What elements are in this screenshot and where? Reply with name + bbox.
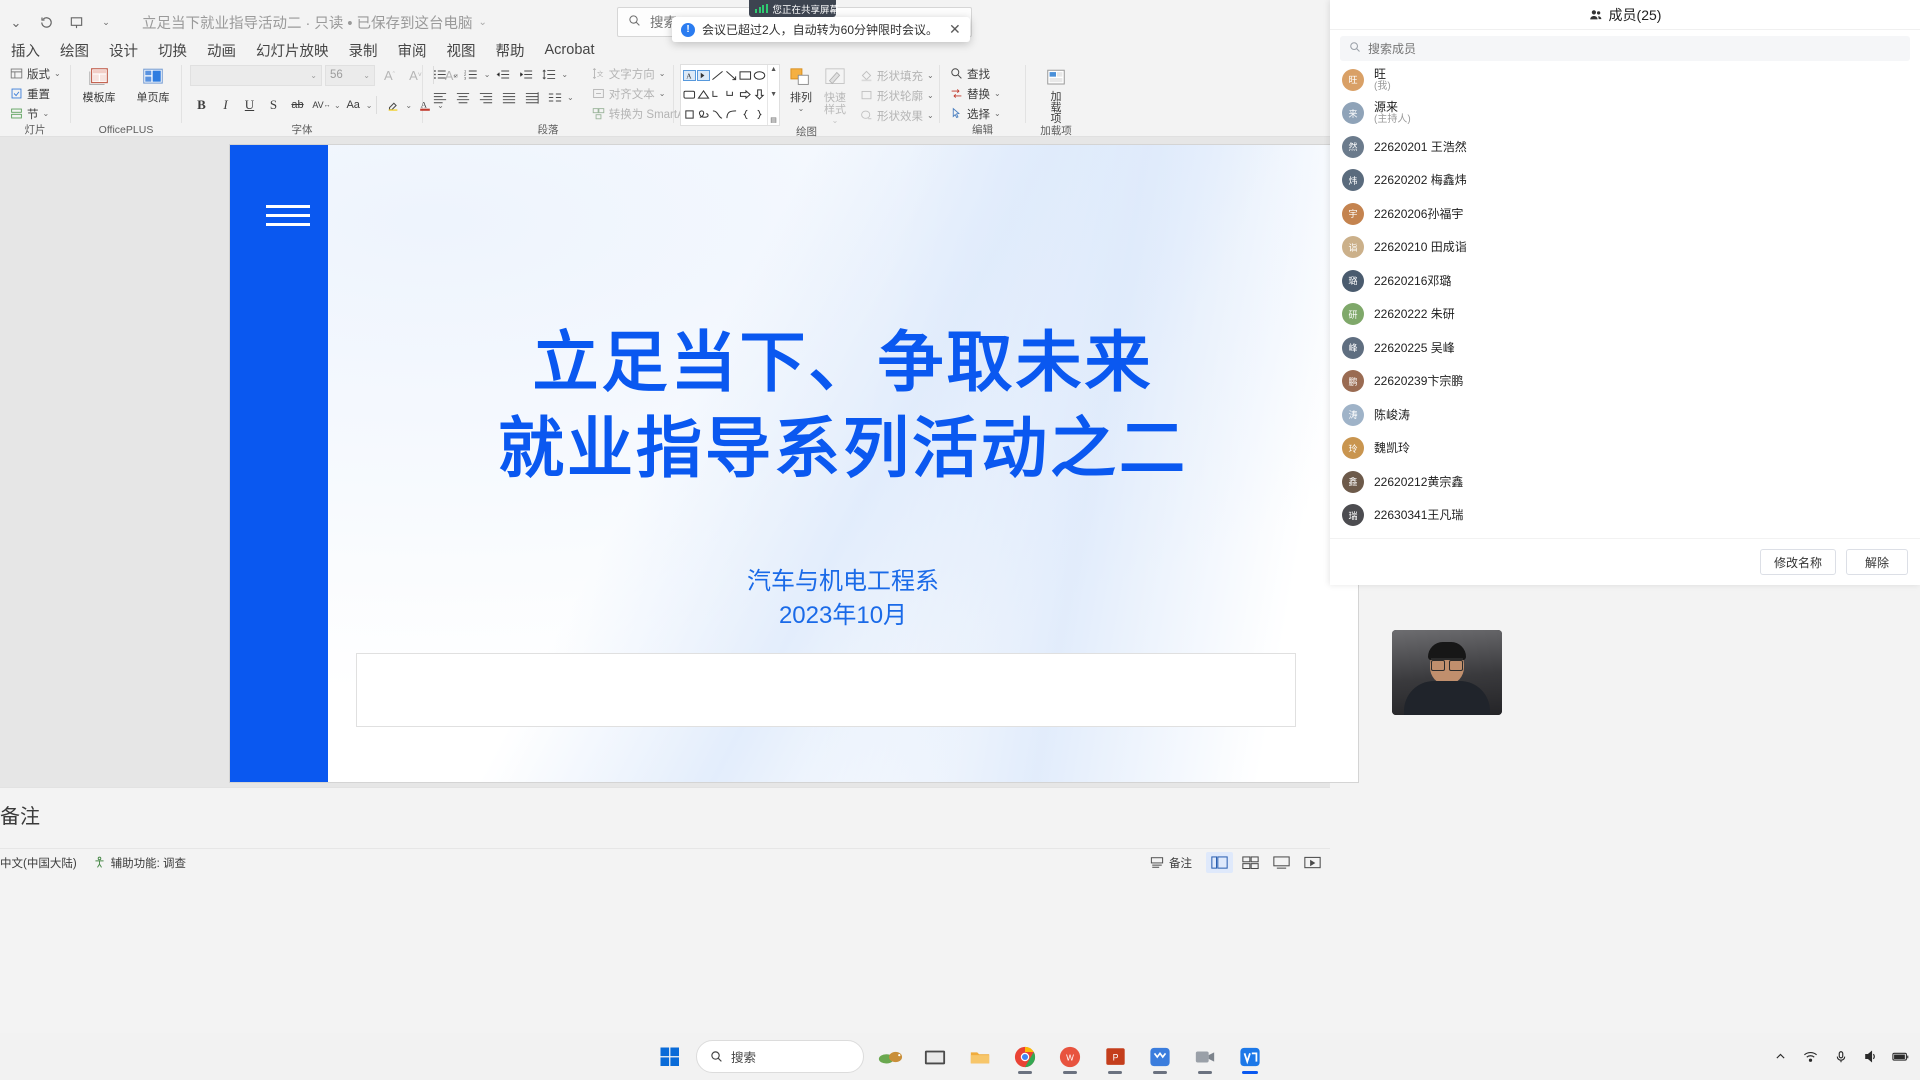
member-name: 22620222 朱研 (1374, 307, 1455, 321)
taskbar-center-group: 搜索 (651, 1038, 1269, 1076)
template-library-label: 模板库 (83, 92, 116, 104)
member-row[interactable]: 璐22620216邓璐 (1330, 264, 1920, 298)
text-highlight-icon[interactable] (381, 94, 404, 116)
ribbon-tab-2[interactable]: 设计 (100, 38, 147, 63)
change-case-button[interactable]: Aa (342, 94, 365, 116)
chevron-down-icon[interactable]: ⌄ (832, 116, 839, 125)
avatar: 瑞 (1342, 504, 1364, 526)
ribbon-tab-1[interactable]: 绘图 (51, 38, 98, 63)
view-slideshow-button[interactable] (1299, 852, 1326, 873)
document-title-chevron-icon[interactable]: ⌄ (479, 17, 487, 28)
member-row[interactable]: 研22620222 朱研 (1330, 298, 1920, 332)
member-name: 22620210 田成诣 (1374, 240, 1467, 254)
increase-font-size-icon[interactable]: Aˆ (378, 64, 401, 86)
file-manager-icon[interactable] (961, 1038, 999, 1076)
avatar: 来 (1342, 102, 1364, 124)
arrange-label: 排列 (790, 92, 812, 104)
members-panel: 成员(25) 旺旺(我)来源来(主持人)然22620201 王浩然炜226202… (1330, 0, 1920, 585)
select-button[interactable]: 选择 ⌄ (946, 104, 1005, 123)
member-info: 22620202 梅鑫炜 (1374, 173, 1467, 187)
view-normal-button[interactable] (1206, 852, 1233, 873)
chevron-down-icon[interactable]: ⌄ (405, 101, 412, 110)
chevron-down-icon[interactable]: ⌄ (659, 89, 666, 98)
chevron-down-icon[interactable]: ⌄ (927, 91, 934, 100)
member-row[interactable]: 玲魏凯玲 (1330, 432, 1920, 466)
chevron-down-icon[interactable]: ⌄ (43, 109, 50, 118)
shape-triangle-icon[interactable] (696, 85, 710, 104)
distribute-icon[interactable] (521, 87, 542, 107)
shape-line-icon[interactable] (710, 66, 724, 85)
member-name: 22620239卞宗鹏 (1374, 374, 1463, 388)
reset-label: 重置 (27, 86, 50, 102)
slide-canvas-area: 立足当下、争取未来 就业指导系列活动之二 汽车与机电工程系 2023年10月 (0, 137, 1330, 787)
shape-scribble-icon[interactable] (696, 105, 710, 124)
shape-fill-button[interactable]: 形状填充 ⌄ (856, 66, 938, 85)
normal-view-icon (1211, 856, 1228, 870)
scroll-expand-icon[interactable]: ▤ (770, 116, 777, 124)
single-page-library-label: 单页库 (137, 92, 170, 104)
ribbon-group-paragraph: ⌄ 123 ⌄ (423, 61, 673, 137)
sorter-view-icon (1242, 856, 1259, 870)
signal-bars-icon (755, 4, 768, 13)
member-info: 22630341王凡瑞 (1374, 508, 1463, 522)
taskbar-search-box[interactable]: 搜索 (696, 1040, 864, 1073)
member-info: 源来(主持人) (1374, 100, 1411, 126)
ribbon-tab-6[interactable]: 录制 (340, 38, 387, 63)
view-reading-button[interactable] (1268, 852, 1295, 873)
text-direction-label: 文字方向 (609, 66, 655, 82)
member-row[interactable]: 涛陈峻涛 (1330, 398, 1920, 432)
ribbon-group-label-officeplus: OfficePLUS (71, 124, 181, 137)
avatar: 宇 (1342, 203, 1364, 225)
find-button[interactable]: 查找 (946, 64, 1005, 83)
chrome-icon[interactable] (1006, 1038, 1044, 1076)
avatar: 玲 (1342, 437, 1364, 459)
ribbon-tab-9[interactable]: 帮助 (487, 38, 534, 63)
shape-elbow-connector-icon[interactable] (710, 85, 724, 104)
avatar: 旺 (1342, 69, 1364, 91)
slide-bottom-placeholder-box[interactable] (356, 653, 1296, 727)
file-explorer-icon[interactable] (916, 1038, 954, 1076)
meeting-notification-toast: ! 会议已超过2人，自动转为60分钟限时会议。 ✕ (672, 17, 970, 42)
slide-subtitle-line-1: 汽车与机电工程系 (328, 565, 1358, 599)
self-video-thumbnail[interactable] (1392, 630, 1502, 715)
notes-pane[interactable]: 备注 (0, 787, 1330, 844)
avatar: 璐 (1342, 270, 1364, 292)
arrange-icon (788, 66, 814, 90)
ribbon-group-label-font: 字体 (182, 124, 422, 137)
member-row[interactable]: 鹏22620239卞宗鹏 (1330, 365, 1920, 399)
font-size-value: 56 (330, 69, 343, 81)
chevron-up-icon[interactable] (1767, 1042, 1794, 1072)
shape-right-brace-icon[interactable] (752, 105, 766, 124)
present-icon[interactable] (62, 9, 90, 37)
status-right-group: 备注 (1150, 852, 1326, 873)
ribbon: 版式 ⌄ 重置 节 (0, 61, 1330, 137)
shape-arrow-box-icon[interactable] (696, 66, 710, 85)
chevron-down-icon[interactable]: ⌄ (54, 69, 61, 78)
taskbar-search-label: 搜索 (731, 1047, 756, 1066)
status-bar: 中文(中国大陆) 辅助功能: 调查 备注 (0, 848, 1330, 876)
ribbon-group-label-paragraph: 段落 (423, 124, 673, 137)
ribbon-tab-0[interactable]: 插入 (2, 38, 49, 63)
shape-fill-label: 形状填充 (877, 68, 923, 84)
members-panel-header: 成员(25) (1330, 0, 1920, 30)
shape-elbow-arrow-icon[interactable] (724, 85, 738, 104)
svg-text:P: P (1112, 1052, 1118, 1062)
section-label: 节 (27, 106, 39, 122)
bold-button[interactable]: B (190, 94, 213, 116)
tencent-meeting-icon[interactable] (1231, 1038, 1269, 1076)
ribbon-tab-10[interactable]: Acrobat (536, 40, 604, 60)
widgets-icon[interactable] (871, 1038, 909, 1076)
chevron-down-icon[interactable]: ⌄ (366, 101, 373, 110)
member-name: 22620202 梅鑫炜 (1374, 173, 1467, 187)
ribbon-group-officeplus: 模板库 单页库 Office (71, 61, 181, 137)
avatar: 诣 (1342, 236, 1364, 258)
language-label: 中文(中国大陆) (0, 855, 77, 871)
member-name: 旺 (1374, 67, 1391, 81)
shape-rectangle-icon[interactable] (738, 66, 752, 85)
addins-label: 加载项 (1051, 92, 1062, 125)
justify-icon[interactable] (498, 87, 519, 107)
notes-label: 备注 (0, 800, 40, 829)
video-person-glasses (1431, 658, 1463, 667)
section-button[interactable]: 节 ⌄ (6, 104, 65, 123)
shape-curve-icon[interactable] (710, 105, 724, 124)
quick-styles-icon (822, 66, 848, 90)
slide-title-line-1: 立足当下、争取未来 (328, 320, 1358, 406)
ribbon-group-label-editing: 编辑 (940, 124, 1025, 137)
wps-icon[interactable]: W (1051, 1038, 1089, 1076)
member-name: 22620206孙福宇 (1374, 207, 1463, 221)
ribbon-group-label-slides: 灯片 (0, 124, 70, 137)
shadow-button[interactable]: S (262, 94, 285, 116)
member-name: 22620201 王浩然 (1374, 140, 1467, 154)
wifi-icon[interactable] (1797, 1042, 1824, 1072)
addins-icon (1043, 66, 1069, 90)
avatar: 然 (1342, 136, 1364, 158)
chevron-down-icon[interactable]: ⌄ (927, 71, 934, 80)
scroll-more-icon[interactable]: ▼ (770, 91, 777, 98)
accessibility-status[interactable]: 辅助功能: 调查 (93, 855, 186, 871)
member-name: 陈峻涛 (1374, 408, 1410, 422)
italic-button[interactable]: I (214, 94, 237, 116)
shape-effects-label: 形状效果 (877, 108, 923, 124)
chevron-down-icon[interactable]: ⌄ (567, 93, 574, 102)
member-name: 22620225 吴峰 (1374, 341, 1455, 355)
shapes-gallery[interactable]: A (680, 64, 780, 126)
screen-share-badge: 您正在共享屏幕 (749, 0, 836, 17)
replace-label: 替换 (967, 86, 990, 102)
member-row[interactable]: 峰22620225 吴峰 (1330, 331, 1920, 365)
document-title-text: 立足当下就业指导活动二 · 只读 • 已保存到这台电脑 (142, 12, 473, 33)
member-row[interactable]: 鑫22620212黄宗鑫 (1330, 465, 1920, 499)
member-name: 22620216邓璐 (1374, 274, 1451, 288)
chevron-down-icon[interactable]: ⌄ (927, 111, 934, 120)
member-info: 22620210 田成诣 (1374, 240, 1467, 254)
remove-button[interactable]: 解除 (1846, 549, 1908, 575)
notes-toggle-button[interactable]: 备注 (1150, 855, 1192, 871)
ribbon-tab-bar: 插入绘图设计切换动画幻灯片放映录制审阅视图帮助Acrobat (0, 37, 1330, 63)
ribbon-group-font: ⌄ 56 ⌄ Aˆ A˅ A⌀ B I U (182, 61, 422, 137)
avatar: 鹏 (1342, 370, 1364, 392)
windows-start-icon[interactable] (651, 1038, 689, 1076)
member-info: 22620201 王浩然 (1374, 140, 1467, 154)
windows-taskbar: 搜索 (0, 1033, 1920, 1080)
shape-right-arrow-icon[interactable] (738, 85, 752, 104)
shape-arrow-line-icon[interactable] (724, 66, 738, 85)
rename-button[interactable]: 修改名称 (1760, 549, 1836, 575)
member-row[interactable]: 旺旺(我) (1330, 63, 1920, 97)
video-person-body (1404, 681, 1490, 715)
member-info: 22620216邓璐 (1374, 274, 1451, 288)
member-row[interactable]: 宇22620206孙福宇 (1330, 197, 1920, 231)
chevron-down-icon[interactable]: ⌄ (452, 70, 459, 79)
ribbon-group-editing: 查找 替换 ⌄ 选择 ⌄ 编辑 (940, 61, 1025, 137)
svg-text:文: 文 (597, 69, 604, 78)
select-label: 选择 (967, 106, 990, 122)
view-sorter-button[interactable] (1237, 852, 1264, 873)
undo-icon[interactable] (32, 9, 60, 37)
strikethrough-button[interactable]: ab (286, 94, 309, 116)
shapes-gallery-scrollbar[interactable]: ▲ ▼ ▤ (767, 65, 779, 125)
members-panel-title: 成员(25) (1609, 5, 1662, 25)
single-page-library-icon (140, 66, 166, 90)
speaker-icon[interactable] (1857, 1042, 1884, 1072)
align-center-icon[interactable] (452, 87, 473, 107)
shape-pentagon-icon[interactable] (682, 105, 696, 124)
shape-rounded-rect-icon[interactable] (682, 85, 696, 104)
ribbon-tab-5[interactable]: 幻灯片放映 (247, 38, 338, 63)
svg-text:A: A (686, 71, 692, 80)
member-info: 22620212黄宗鑫 (1374, 475, 1463, 489)
align-right-icon[interactable] (475, 87, 496, 107)
member-role: (主持人) (1374, 114, 1411, 126)
member-info: 22620222 朱研 (1374, 307, 1455, 321)
character-spacing-icon[interactable]: AV↔ (310, 94, 333, 116)
member-info: 魏凯玲 (1374, 441, 1410, 455)
accessibility-label: 辅助功能: 调查 (111, 855, 186, 871)
numbering-icon[interactable]: 123 (461, 64, 482, 84)
reset-button[interactable]: 重置 (6, 84, 65, 103)
screen-share-text: 您正在共享屏幕 (773, 2, 840, 16)
avatar: 研 (1342, 303, 1364, 325)
shape-textbox-icon[interactable]: A (682, 66, 696, 85)
notes-icon (1150, 856, 1164, 869)
member-info: 旺(我) (1374, 67, 1391, 93)
member-name: 22620212黄宗鑫 (1374, 475, 1463, 489)
avatar: 涛 (1342, 404, 1364, 426)
shapes-grid: A (681, 65, 767, 125)
shape-down-arrow-icon[interactable] (752, 85, 766, 104)
taskbar-system-tray (1767, 1042, 1914, 1072)
columns-icon[interactable] (544, 87, 565, 107)
quick-access-toolbar: ⌄ ⌄ (0, 9, 120, 37)
line-spacing-icon[interactable] (538, 64, 559, 84)
ribbon-tab-4[interactable]: 动画 (198, 38, 245, 63)
slide-subtitle-line-2: 2023年10月 (328, 599, 1358, 633)
align-text-label: 对齐文本 (609, 86, 655, 102)
slide-subtitle-placeholder[interactable]: 汽车与机电工程系 2023年10月 (328, 565, 1358, 633)
layout-button[interactable]: 版式 ⌄ (6, 64, 65, 83)
avatar: 峰 (1342, 337, 1364, 359)
member-row[interactable]: 瑞22630341王凡瑞 (1330, 499, 1920, 533)
wechat-icon[interactable] (1141, 1038, 1179, 1076)
member-info: 22620206孙福宇 (1374, 207, 1463, 221)
teams-icon[interactable] (1186, 1038, 1224, 1076)
meeting-notification-text: 会议已超过2人，自动转为60分钟限时会议。 (702, 21, 938, 38)
chevron-down-icon[interactable]: ⌄ (659, 69, 666, 78)
ribbon-group-addins: 加载项 加载项 (1026, 61, 1086, 137)
search-icon (710, 1050, 723, 1063)
find-label: 查找 (967, 66, 990, 82)
slideshow-icon (1304, 856, 1321, 870)
single-page-library-button[interactable]: 单页库 (131, 64, 175, 104)
ribbon-tab-7[interactable]: 审阅 (389, 38, 436, 63)
member-name: 22630341王凡瑞 (1374, 508, 1463, 522)
font-size-combo[interactable]: 56 ⌄ (325, 65, 375, 86)
mic-icon[interactable] (1827, 1042, 1854, 1072)
members-search-input[interactable] (1368, 42, 1901, 56)
members-panel-footer: 修改名称解除 (1330, 538, 1920, 585)
qat-more-icon[interactable]: ⌄ (92, 9, 120, 37)
accessibility-icon (93, 856, 106, 869)
slide-left-accent-bar (230, 145, 328, 782)
member-name: 源来 (1374, 100, 1411, 114)
font-name-combo[interactable]: ⌄ (190, 65, 322, 86)
chevron-down-icon[interactable]: ⌄ (994, 89, 1001, 98)
addins-button[interactable]: 加载项 (1034, 64, 1078, 125)
shape-arc-icon[interactable] (724, 105, 738, 124)
arrange-button[interactable]: 排列 ⌄ (788, 64, 814, 113)
shape-effects-button[interactable]: 形状效果 ⌄ (856, 106, 938, 125)
chevron-down-icon[interactable]: ⌄ (334, 101, 341, 110)
decrease-indent-icon[interactable] (492, 64, 513, 84)
people-icon (1589, 8, 1603, 22)
member-row[interactable]: 来源来(主持人) (1330, 97, 1920, 131)
ribbon-group-slides: 版式 ⌄ 重置 节 (0, 61, 70, 137)
svg-text:W: W (1066, 1053, 1074, 1062)
member-role: (我) (1374, 81, 1391, 93)
member-row[interactable]: 诣22620210 田成诣 (1330, 231, 1920, 265)
current-slide[interactable]: 立足当下、争取未来 就业指导系列活动之二 汽车与机电工程系 2023年10月 (230, 145, 1358, 782)
template-library-button[interactable]: 模板库 (77, 64, 121, 104)
document-title[interactable]: 立足当下就业指导活动二 · 只读 • 已保存到这台电脑 ⌄ (142, 12, 487, 33)
divider (376, 96, 377, 114)
member-info: 22620225 吴峰 (1374, 341, 1455, 355)
member-info: 陈峻涛 (1374, 408, 1410, 422)
scroll-up-icon[interactable]: ▲ (770, 66, 777, 73)
increase-indent-icon[interactable] (515, 64, 536, 84)
shape-left-brace-icon[interactable] (738, 105, 752, 124)
member-name: 魏凯玲 (1374, 441, 1410, 455)
shape-outline-button[interactable]: 形状轮廓 ⌄ (856, 86, 938, 105)
font-row-bottom: B I U S ab AV↔ ⌄ Aa ⌄ (190, 94, 444, 116)
members-search-box[interactable] (1340, 36, 1910, 61)
members-list[interactable]: 旺旺(我)来源来(主持人)然22620201 王浩然炜22620202 梅鑫炜宇… (1330, 63, 1920, 538)
underline-button[interactable]: U (238, 94, 261, 116)
layout-label: 版式 (27, 66, 50, 82)
shape-ellipse-icon[interactable] (752, 66, 766, 85)
avatar: 炜 (1342, 169, 1364, 191)
avatar: 鑫 (1342, 471, 1364, 493)
member-row[interactable]: 然22620201 王浩然 (1330, 130, 1920, 164)
powerpoint-icon[interactable]: P (1096, 1038, 1134, 1076)
battery-icon[interactable] (1887, 1042, 1914, 1072)
ribbon-tab-3[interactable]: 切换 (149, 38, 196, 63)
chevron-down-icon[interactable]: ⌄ (561, 70, 568, 79)
status-left-group: 中文(中国大陆) 辅助功能: 调查 (0, 855, 186, 871)
slide-title-placeholder[interactable]: 立足当下、争取未来 就业指导系列活动之二 (328, 320, 1358, 492)
template-library-icon (86, 66, 112, 90)
member-row[interactable]: 炜22620202 梅鑫炜 (1330, 164, 1920, 198)
svg-text:3: 3 (464, 75, 467, 80)
slide-hamburger-decoration-icon (266, 205, 310, 232)
quick-styles-button[interactable]: 快速样式 ⌄ (822, 64, 848, 125)
replace-button[interactable]: 替换 ⌄ (946, 84, 1005, 103)
chevron-down-icon[interactable]: ⌄ (798, 104, 805, 113)
ribbon-group-drawing: A (674, 61, 939, 137)
align-left-icon[interactable] (429, 87, 450, 107)
bullets-icon[interactable] (429, 64, 450, 84)
language-status[interactable]: 中文(中国大陆) (0, 855, 77, 871)
notes-toggle-label: 备注 (1169, 855, 1192, 871)
info-icon: ! (681, 23, 695, 37)
chevron-down-icon[interactable]: ⌄ (484, 70, 491, 79)
screen-root: ⌄ ⌄ 立足当下就业指导活动二 · 只读 • 已保存到这台电脑 ⌄ (0, 0, 1920, 1080)
slide-title-line-2: 就业指导系列活动之二 (328, 406, 1358, 492)
search-icon (1349, 41, 1361, 56)
reading-view-icon (1273, 856, 1290, 870)
shape-outline-label: 形状轮廓 (877, 88, 923, 104)
quick-styles-label: 快速样式 (822, 92, 848, 116)
close-icon[interactable]: ✕ (949, 21, 961, 38)
search-icon (628, 14, 641, 30)
chevron-down-icon[interactable]: ⌄ (994, 109, 1001, 118)
autosave-chevron-icon[interactable]: ⌄ (2, 9, 30, 37)
ribbon-tab-8[interactable]: 视图 (438, 38, 485, 63)
member-info: 22620239卞宗鹏 (1374, 374, 1463, 388)
